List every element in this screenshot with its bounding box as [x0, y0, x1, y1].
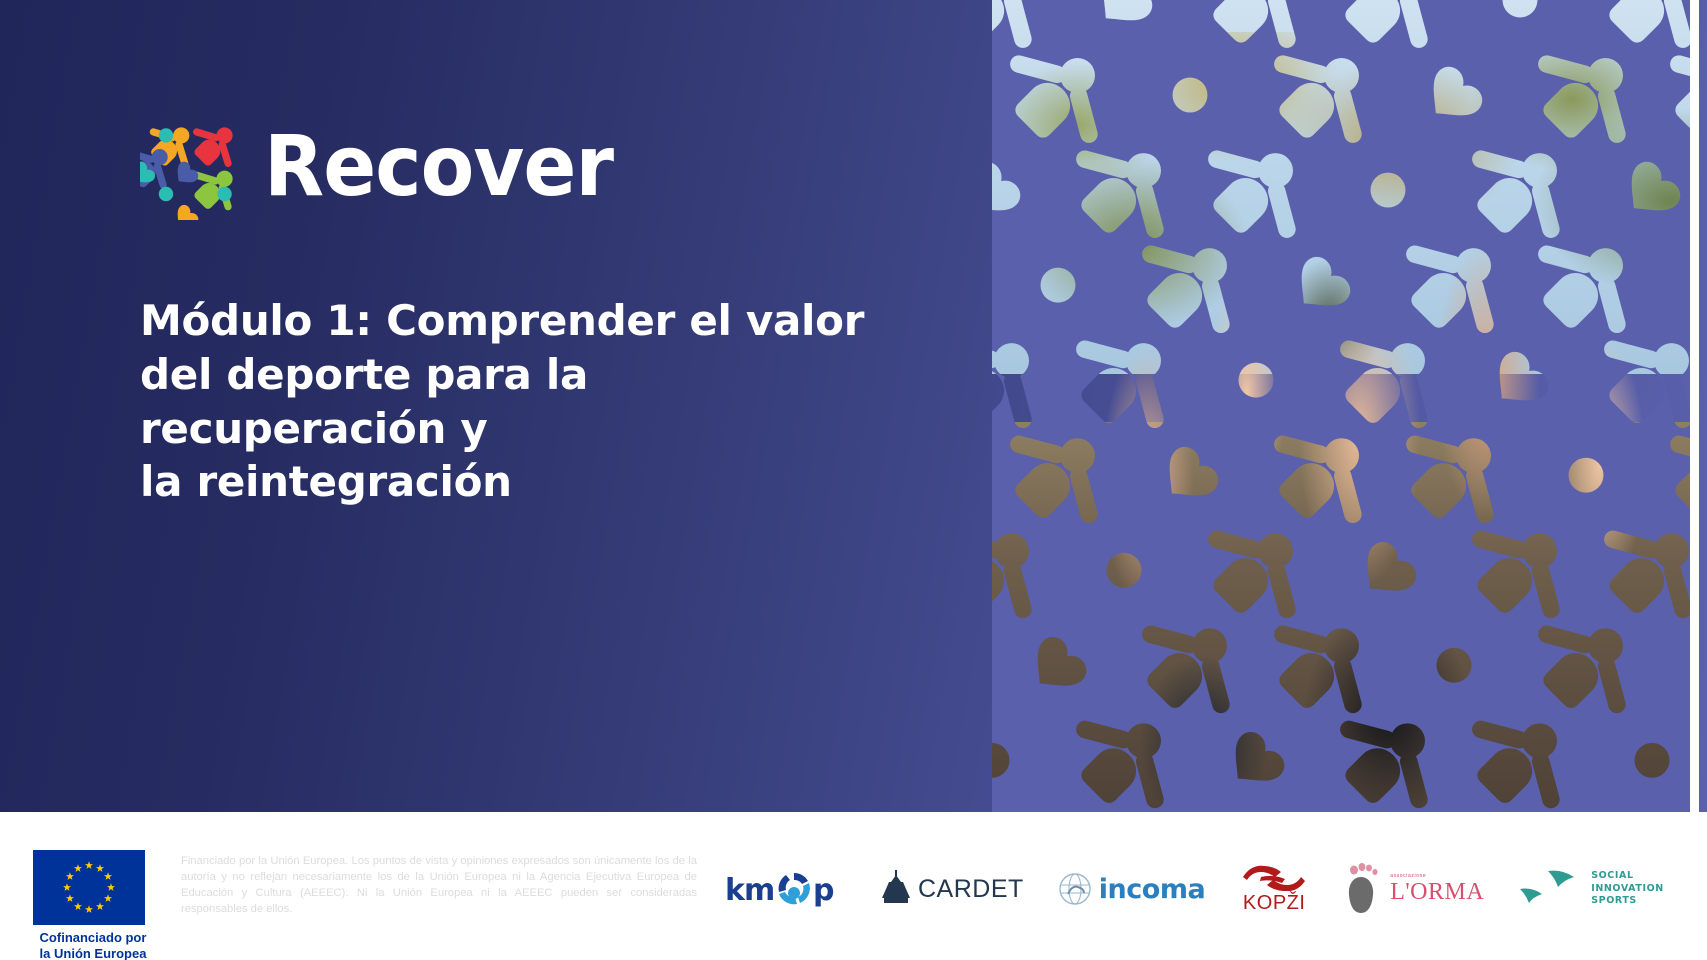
partner-label-sis-line-1: SOCIAL [1591, 870, 1664, 883]
partner-logo-incoma: incoma [1058, 861, 1205, 917]
brand-wordmark: Recover [264, 124, 613, 208]
hero-panel: Recover Módulo 1: Comprender el valor de… [0, 0, 1707, 812]
svg-text:p: p [813, 873, 834, 908]
partner-logo-cardet: CARDET [881, 861, 1024, 917]
partner-logo-sis: SOCIAL INNOVATION SPORTS [1518, 861, 1664, 917]
right-edge-strip [1690, 0, 1699, 812]
eu-flag-icon [33, 850, 145, 925]
footer-bar: Cofinanciado por la Unión Europea Financ… [0, 812, 1707, 960]
kmop-circle-icon: km p [725, 867, 847, 911]
page-title: Módulo 1: Comprender el valor del deport… [140, 294, 880, 509]
recover-pattern-overlay [992, 0, 1699, 812]
partner-label-kopzi: KOPŽI [1243, 892, 1306, 915]
partner-label-lorma: L'ORMA [1390, 879, 1484, 906]
incoma-globe-icon [1058, 872, 1092, 906]
page-title-line-1: Módulo 1: Comprender el valor [140, 294, 880, 348]
kopzi-hands-icon [1239, 861, 1309, 891]
partner-label-incoma: incoma [1099, 874, 1205, 905]
partner-label-sis-line-2: INNOVATION [1591, 883, 1664, 896]
presentation-slide: Recover Módulo 1: Comprender el valor de… [0, 0, 1707, 960]
partner-logo-lorma: associazione L'ORMA [1343, 861, 1484, 917]
brand-logo: Recover [140, 112, 639, 220]
partner-label-cardet: CARDET [918, 875, 1024, 904]
partner-label-sis-line-3: SPORTS [1591, 895, 1664, 908]
partner-label-sis-block: SOCIAL INNOVATION SPORTS [1591, 870, 1664, 908]
page-title-line-3: la reintegración [140, 455, 880, 509]
recover-people-hearts-logo-icon [140, 112, 248, 220]
partner-logos: km p kmop [725, 856, 1585, 922]
eu-funding-caption: Cofinanciado por la Unión Europea [33, 930, 153, 960]
eu-funding-block: Cofinanciado por la Unión Europea [33, 850, 153, 960]
cardet-tower-icon [881, 868, 911, 910]
eu-caption-line-1: Cofinanciado por [33, 930, 153, 946]
svg-text:km: km [725, 873, 774, 908]
page-title-line-2: del deporte para la recuperación y [140, 348, 880, 456]
funding-disclaimer: Financiado por la Unión Europea. Los pun… [181, 854, 697, 918]
eu-caption-line-2: la Unión Europea [33, 946, 153, 960]
lorma-footprint-icon [1343, 863, 1383, 915]
sis-birds-icon [1518, 867, 1584, 911]
masked-photo-block [992, 0, 1699, 812]
partner-logo-kopzi: KOPŽI [1239, 861, 1309, 917]
partner-logo-kmop: km p kmop [725, 861, 847, 917]
